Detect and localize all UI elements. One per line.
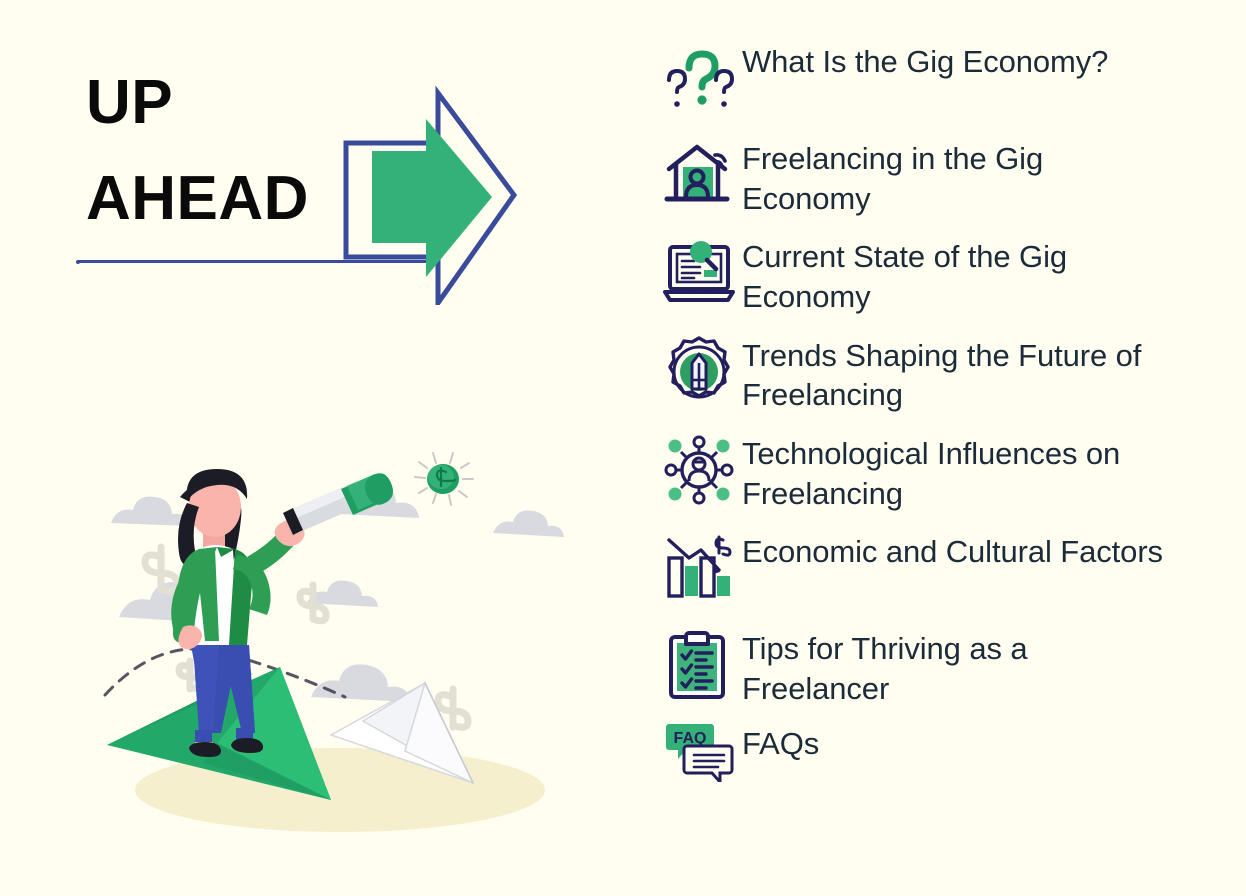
slide-root: UP AHEAD [0,0,1246,896]
bar-chart-dollar-icon [656,526,742,610]
network-person-icon [656,428,742,512]
toc-item-label: Current State of the Gig Economy [742,231,1172,316]
house-wifi-person-icon [656,133,742,217]
left-panel: UP AHEAD [0,0,620,896]
faq-icon-text: FAQ [674,730,707,747]
toc-item-freelancing-in-the-gig-economy[interactable]: Freelancing in the Gig Economy [656,133,1236,218]
toc-item-label: Technological Influences on Freelancing [742,428,1172,513]
toc-item-label: What Is the Gig Economy? [742,36,1108,82]
toc-item-label: Trends Shaping the Future of Freelancing [742,330,1172,415]
right-panel: What Is the Gig Economy? [620,0,1246,896]
telescope [283,473,393,535]
toc-item-economic-and-cultural-factors[interactable]: Economic and Cultural Factors [656,526,1236,610]
badge-pencil-icon [656,330,742,414]
question-marks-icon [656,36,742,120]
faq-chat-icon: FAQ [656,722,742,780]
illustration-woman-telescope-paper-plane [95,445,585,855]
right-arrow-icon [340,85,520,305]
table-of-contents: What Is the Gig Economy? [656,36,1236,780]
page-title-line-2: AHEAD [86,168,309,230]
toc-item-tips-for-thriving-as-a-freelancer[interactable]: Tips for Thriving as a Freelancer [656,623,1236,708]
clipboard-checklist-icon [656,623,742,707]
toc-item-what-is-the-gig-economy[interactable]: What Is the Gig Economy? [656,36,1236,120]
toc-item-label: FAQs [742,722,819,764]
toc-item-faqs[interactable]: FAQ FAQs [656,722,1236,780]
page-title-line-1: UP [86,72,173,134]
dollar-coin [415,453,473,505]
toc-item-label: Freelancing in the Gig Economy [742,133,1172,218]
toc-item-technological-influences-on-freelancing[interactable]: Technological Influences on Freelancing [656,428,1236,513]
toc-item-label: Economic and Cultural Factors [742,526,1163,572]
toc-item-label: Tips for Thriving as a Freelancer [742,623,1172,708]
toc-item-current-state-of-the-gig-economy[interactable]: Current State of the Gig Economy [656,231,1236,316]
toc-item-trends-shaping-the-future-of-freelancing[interactable]: Trends Shaping the Future of Freelancing [656,330,1236,415]
laptop-magnifier-icon [656,231,742,315]
